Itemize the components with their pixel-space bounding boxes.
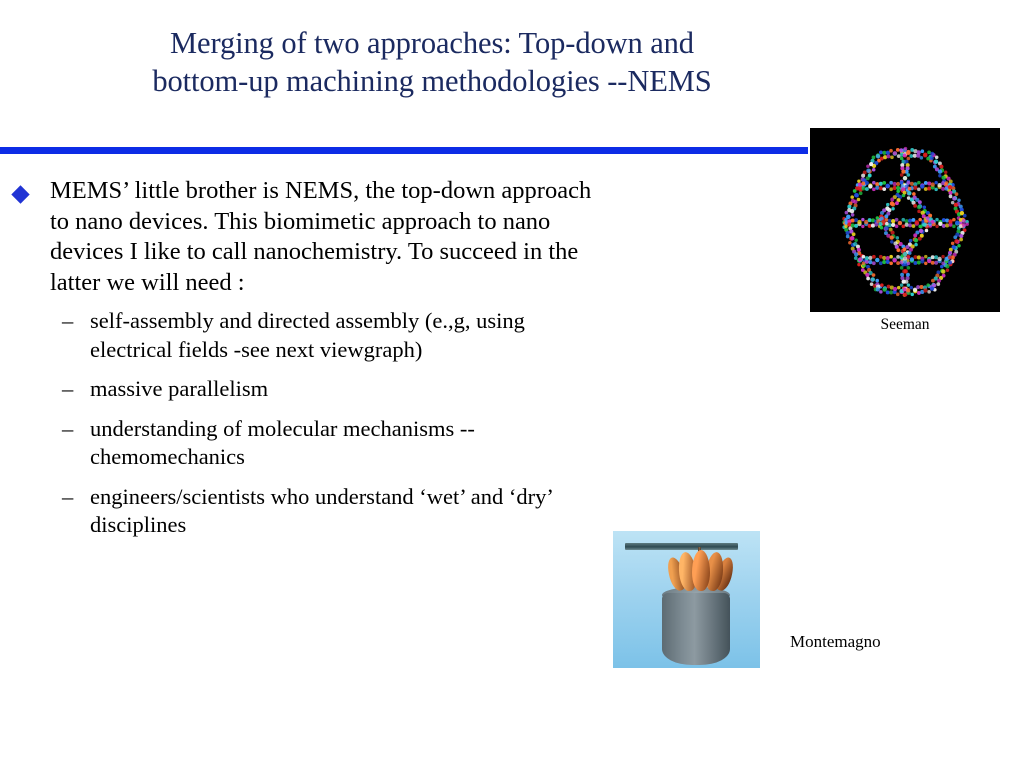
bullet-text: massive parallelism (90, 375, 600, 404)
bullet-item-primary: MEMS’ little brother is NEMS, the top-do… (0, 176, 620, 298)
en-dash-bullet-icon: – (62, 415, 73, 444)
nickel-post (662, 593, 730, 665)
title-divider-rule (0, 147, 808, 154)
bullet-text: MEMS’ little brother is NEMS, the top-do… (50, 176, 610, 298)
propeller-blade (625, 543, 738, 550)
bullet-text: engineers/scientists who understand ‘wet… (90, 483, 600, 540)
en-dash-bullet-icon: – (62, 307, 73, 336)
dna-figure-caption: Seeman (810, 316, 1000, 334)
dna-nanostructure-figure (810, 128, 1000, 312)
slide-body: MEMS’ little brother is NEMS, the top-do… (0, 176, 620, 551)
dna-nanostructure-image (810, 128, 1000, 312)
protein-lobe (692, 550, 710, 591)
en-dash-bullet-icon: – (62, 483, 73, 512)
dna-lattice-graphic (810, 128, 1000, 312)
nanomotor-image (613, 531, 760, 668)
bullet-item-sub: – understanding of molecular mechanisms … (0, 415, 620, 472)
bullet-text: self-assembly and directed assembly (e.,… (90, 307, 600, 364)
bullet-item-sub: – massive parallelism (0, 375, 620, 404)
slide-title: Merging of two approaches: Top-down and … (22, 24, 842, 100)
bullet-item-sub: – self-assembly and directed assembly (e… (0, 307, 620, 364)
bullet-item-sub: – engineers/scientists who understand ‘w… (0, 483, 620, 540)
bullet-text: understanding of molecular mechanisms --… (90, 415, 600, 472)
en-dash-bullet-icon: – (62, 375, 73, 404)
nanomotor-figure-caption: Montemagno (790, 632, 990, 652)
sub-bullet-list: – self-assembly and directed assembly (e… (0, 307, 620, 540)
diamond-bullet-icon (11, 185, 29, 203)
